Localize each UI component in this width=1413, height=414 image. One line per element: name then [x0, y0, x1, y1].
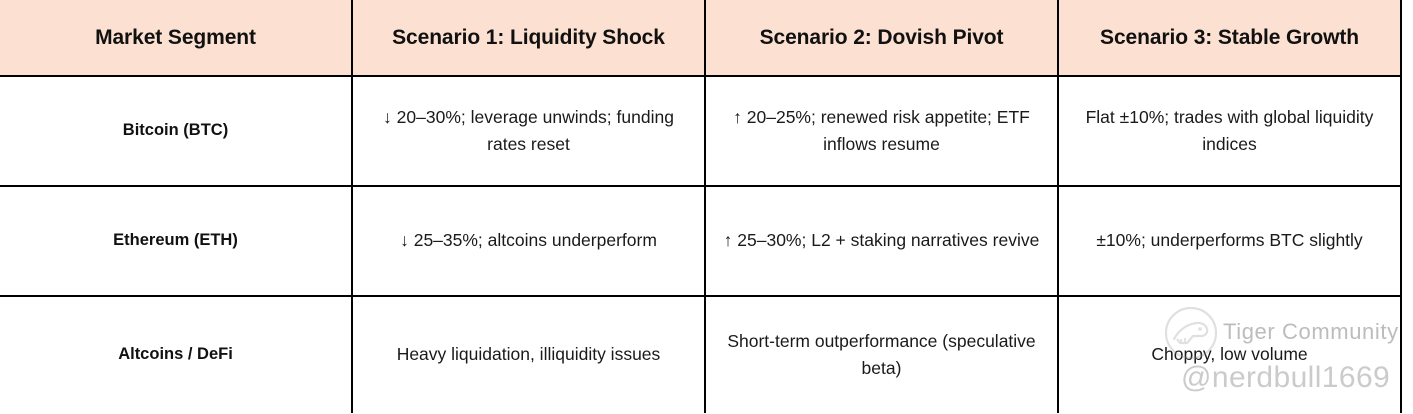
- screenshot-root: Market Segment Scenario 1: Liquidity Sho…: [0, 0, 1413, 414]
- table-header: Market Segment Scenario 1: Liquidity Sho…: [0, 0, 1401, 76]
- table-body: Bitcoin (BTC) ↓ 20–30%; leverage unwinds…: [0, 76, 1401, 413]
- cell-segment-ethereum: Ethereum (ETH): [0, 186, 352, 296]
- table-row: Bitcoin (BTC) ↓ 20–30%; leverage unwinds…: [0, 76, 1401, 186]
- cell-bitcoin-scenario-2: ↑ 20–25%; renewed risk appetite; ETF inf…: [705, 76, 1058, 186]
- column-header-scenario-2: Scenario 2: Dovish Pivot: [705, 0, 1058, 76]
- cell-segment-bitcoin: Bitcoin (BTC): [0, 76, 352, 186]
- crypto-scenario-table: Market Segment Scenario 1: Liquidity Sho…: [0, 0, 1402, 413]
- cell-segment-altcoins-defi: Altcoins / DeFi: [0, 296, 352, 413]
- cell-bitcoin-scenario-3: Flat ±10%; trades with global liquidity …: [1058, 76, 1401, 186]
- table-row: Altcoins / DeFi Heavy liquidation, illiq…: [0, 296, 1401, 413]
- cell-altcoins-scenario-1: Heavy liquidation, illiquidity issues: [352, 296, 705, 413]
- cell-ethereum-scenario-2: ↑ 25–30%; L2 + staking narratives revive: [705, 186, 1058, 296]
- header-row: Market Segment Scenario 1: Liquidity Sho…: [0, 0, 1401, 76]
- cell-altcoins-scenario-3: Choppy, low volume: [1058, 296, 1401, 413]
- cell-altcoins-scenario-2: Short-term outperformance (speculative b…: [705, 296, 1058, 413]
- cell-ethereum-scenario-1: ↓ 25–35%; altcoins underperform: [352, 186, 705, 296]
- column-header-market-segment: Market Segment: [0, 0, 352, 76]
- table-row: Ethereum (ETH) ↓ 25–35%; altcoins underp…: [0, 186, 1401, 296]
- column-header-scenario-1: Scenario 1: Liquidity Shock: [352, 0, 705, 76]
- cell-bitcoin-scenario-1: ↓ 20–30%; leverage unwinds; funding rate…: [352, 76, 705, 186]
- column-header-scenario-3: Scenario 3: Stable Growth: [1058, 0, 1401, 76]
- cell-ethereum-scenario-3: ±10%; underperforms BTC slightly: [1058, 186, 1401, 296]
